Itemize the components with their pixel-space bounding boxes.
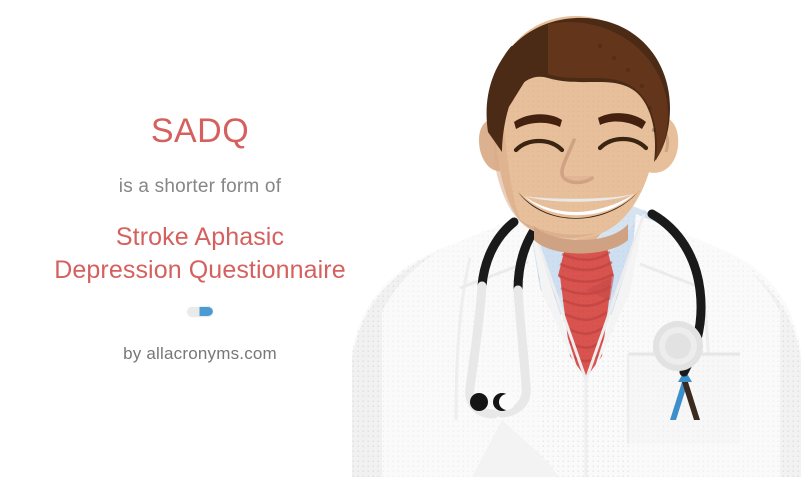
doctor-illustration-svg: [352, 0, 801, 477]
byline-source: by allacronyms.com: [123, 344, 277, 364]
relation-label: is a shorter form of: [119, 176, 281, 199]
smiling-doctor-illustration: [352, 0, 801, 477]
page-root: SADQ is a shorter form of Stroke Aphasic…: [0, 0, 801, 477]
acronym-expansion-line-2: Depression Questionnaire: [54, 254, 345, 287]
stethoscope-chestpiece: [653, 321, 703, 371]
acronym-title: SADQ: [151, 113, 249, 150]
acronym-text-panel: SADQ is a shorter form of Stroke Aphasic…: [0, 0, 400, 477]
capsule-pill-separator-icon: [187, 306, 213, 316]
acronym-expansion: Stroke Aphasic Depression Questionnaire: [54, 221, 345, 286]
acronym-expansion-line-1: Stroke Aphasic: [54, 221, 345, 254]
